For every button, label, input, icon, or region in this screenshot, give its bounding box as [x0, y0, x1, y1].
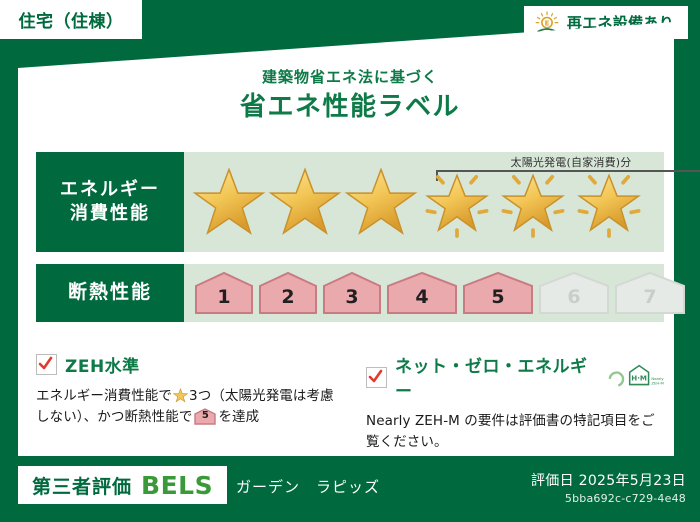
star-icon	[344, 165, 418, 239]
insulation-row-label: 断熱性能	[36, 264, 184, 322]
zeh-text-b: 3つ（太陽光発電	[189, 388, 293, 404]
star-icon-solar	[496, 165, 570, 239]
insulation-grade-4: 4	[384, 271, 460, 315]
energy-performance-row: エネルギー 消費性能 太陽光発電(自家消費)分	[36, 152, 664, 252]
third-party-evaluation-label: 第三者評価	[32, 472, 132, 499]
criterion-zeh-title: ZEH水準	[65, 352, 140, 377]
insulation-grade-value: 4	[415, 288, 428, 315]
svg-text:Nearly: Nearly	[652, 377, 665, 381]
insulation-grade-6: 6	[536, 271, 612, 315]
insulation-grade-list: 1 2 3 4 5	[192, 264, 688, 322]
building-name: ガーデン ラピッズ	[236, 476, 380, 497]
criterion-nze-title: ネット・ゼロ・エネルギー	[395, 352, 593, 402]
criterion-nze-text: Nearly ZEH-M の要件は評価書の特記項目をご覧ください。	[366, 411, 666, 453]
svg-text:ZEH-M: ZEH-M	[652, 382, 664, 386]
nearly-zeh-m-logo-icon: H·M Nearly ZEH-M	[607, 363, 666, 391]
label-title: 省エネ性能ラベル	[0, 86, 700, 123]
energy-label-line2: 消費性能	[70, 202, 150, 226]
insulation-grade-value: 2	[281, 288, 294, 315]
star-icon	[268, 165, 342, 239]
insulation-grade-3: 3	[320, 271, 384, 315]
insulation-grade-value: 7	[643, 288, 656, 315]
zeh-text-a: エネルギー消費性能で	[36, 388, 172, 404]
insulation-grade-badge-value: 5	[194, 408, 216, 424]
svg-text:E: E	[544, 19, 549, 27]
insulation-grade-value: 3	[345, 288, 358, 315]
insulation-grade-7: 7	[612, 271, 688, 315]
house-type-tag-label: 住宅（住棟）	[19, 7, 124, 32]
insulation-grade-value: 5	[491, 288, 504, 315]
house-type-tag: 住宅（住棟）	[0, 0, 142, 39]
insulation-grade-value: 1	[217, 288, 230, 315]
label-subtitle: 建築物省エネ法に基づく	[0, 66, 700, 87]
energy-label-line1: エネルギー	[60, 178, 160, 202]
energy-performance-row-label: エネルギー 消費性能	[36, 152, 184, 252]
zeh-text-d: を達成	[218, 409, 259, 425]
star-rating	[192, 152, 646, 252]
energy-performance-label: 住宅（住棟） E 再エネ設備あり 建築物省エネ法に基づく 省エネ性能ラベル エネ…	[0, 0, 700, 522]
svg-text:H·M: H·M	[632, 373, 648, 382]
insulation-grades-area: 1 2 3 4 5	[184, 264, 664, 322]
criterion-zeh: ZEH水準 エネルギー消費性能で3つ（太陽光発電は考慮しない）、かつ断熱性能で5…	[36, 352, 336, 428]
insulation-grade-badge-inline: 5	[194, 408, 216, 425]
star-icon-solar	[420, 165, 494, 239]
check-icon	[36, 354, 57, 375]
bels-logo-text: BELS	[141, 471, 213, 500]
insulation-grade-1: 1	[192, 271, 256, 315]
criterion-zeh-text: エネルギー消費性能で3つ（太陽光発電は考慮しない）、かつ断熱性能で5を達成	[36, 386, 336, 428]
criterion-net-zero-energy: ネット・ゼロ・エネルギー H·M Nearly ZEH-M Nearly ZEH…	[366, 352, 666, 453]
third-party-evaluation-badge: 第三者評価 BELS	[18, 466, 227, 504]
evaluation-id: 5bba692c-c729-4e48	[565, 492, 686, 505]
star-icon	[192, 165, 266, 239]
star-icon-inline	[173, 388, 188, 403]
insulation-performance-row: 断熱性能 1 2 3 4	[36, 264, 664, 322]
star-icon-solar	[572, 165, 646, 239]
insulation-grade-value: 6	[567, 288, 580, 315]
criterion-zeh-header: ZEH水準	[36, 352, 336, 377]
insulation-grade-2: 2	[256, 271, 320, 315]
criterion-nze-header: ネット・ゼロ・エネルギー H·M Nearly ZEH-M	[366, 352, 666, 402]
energy-stars-area: 太陽光発電(自家消費)分	[184, 152, 664, 252]
insulation-grade-5: 5	[460, 271, 536, 315]
evaluation-date: 評価日 2025年5月23日	[531, 470, 686, 490]
check-icon	[366, 367, 387, 388]
